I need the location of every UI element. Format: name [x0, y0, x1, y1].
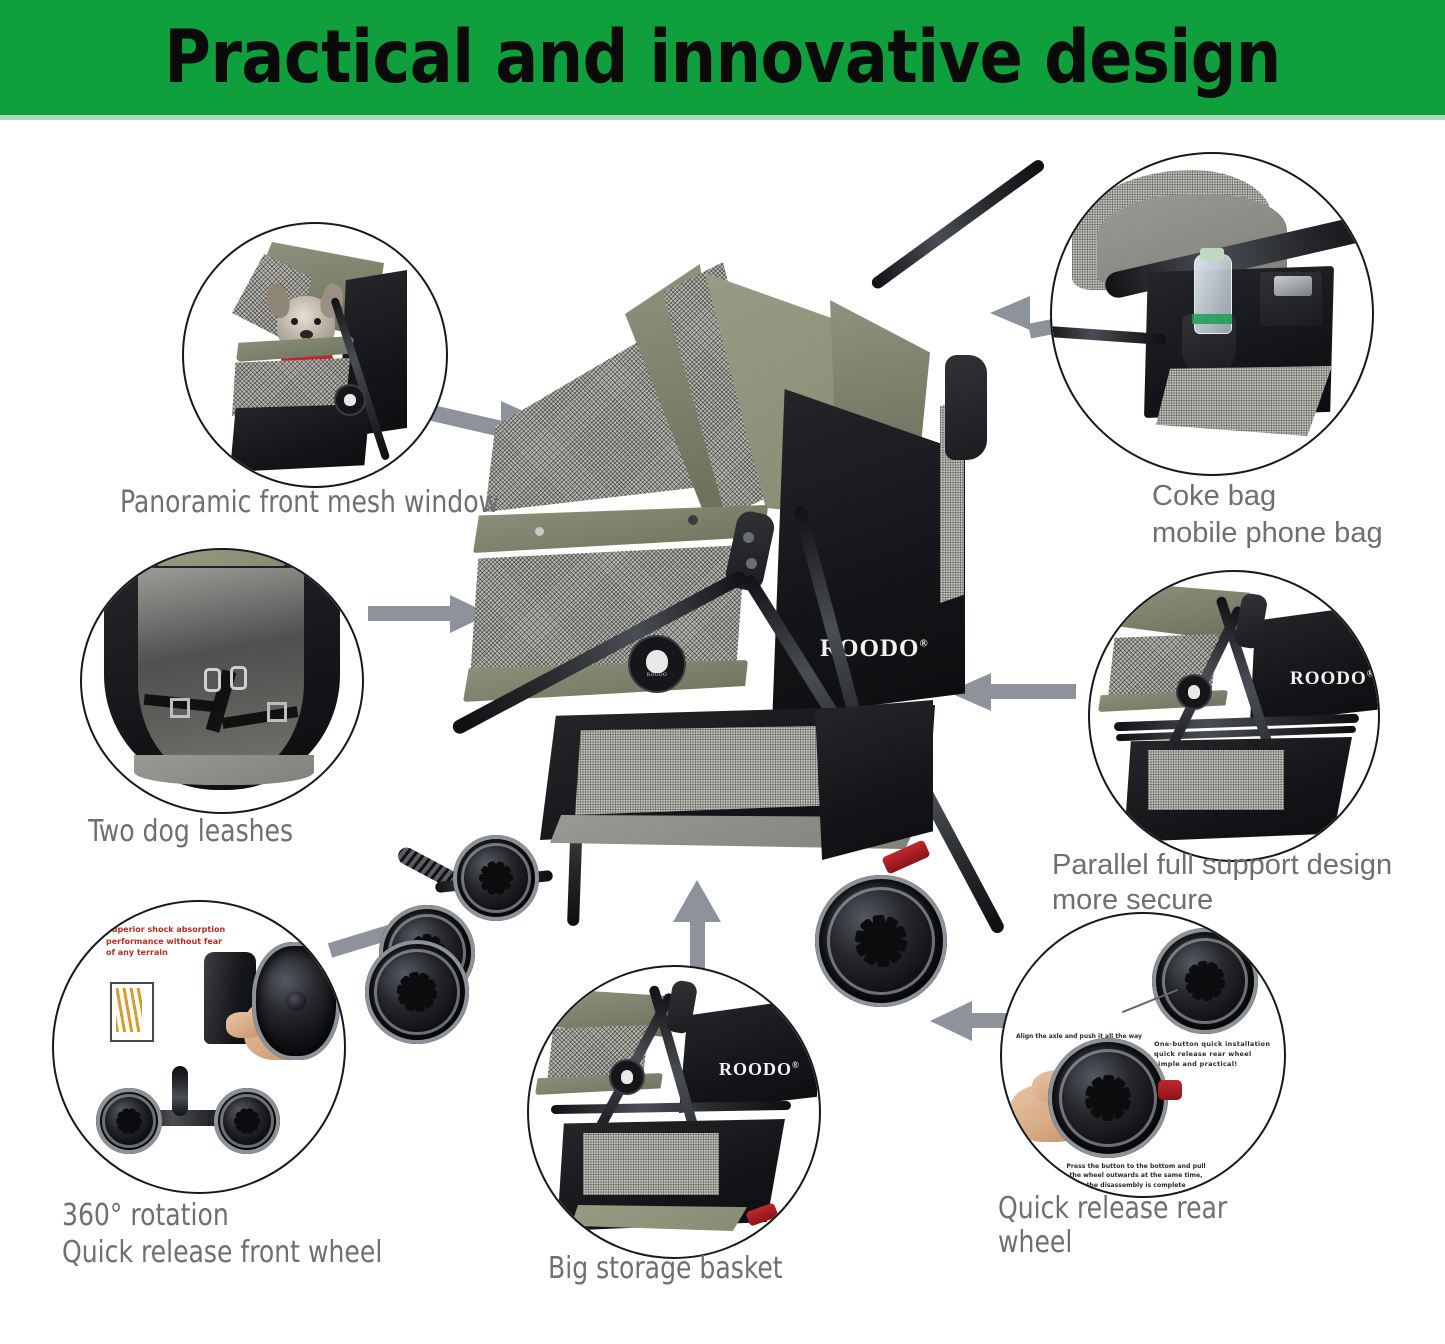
inset4-basket-mesh [1148, 750, 1284, 810]
banner-underline [0, 115, 1445, 120]
inset6-support-bar [551, 1101, 791, 1114]
inset6-roodo-wordmark: ROODO® [719, 1059, 800, 1080]
inset3-rear-lip [134, 755, 314, 785]
caption-panoramic-front-mesh-window: Panoramic front mesh window [120, 486, 511, 520]
inset3-leash-clip [230, 666, 247, 690]
brim-rivet [688, 515, 698, 525]
rear-headrest [945, 355, 987, 460]
inset7-wheel-installed [1152, 928, 1258, 1034]
caption-coke-bag: Coke bag mobile phone bag [1152, 478, 1445, 552]
rear-wheel [815, 875, 947, 1007]
joint-rivet [743, 532, 754, 543]
inset7-wheel-held [1048, 1038, 1168, 1158]
inset-quick-release-rear-wheel: One-button quick installation quick rele… [1000, 912, 1286, 1198]
inset7-bottom-annotation: Press the button to the bottom and pull … [1050, 1162, 1222, 1190]
main-product-image: ROODO® ROODO [375, 250, 995, 1020]
cabin-side-body [760, 368, 965, 718]
inset-quick-release-front-wheel: Superior shock absorption performance wi… [52, 900, 346, 1194]
roodo-dog-logo [646, 650, 668, 673]
inset5-wheel-bottom-left [96, 1088, 162, 1154]
inset2-bottle-label [1192, 314, 1232, 324]
inset2-phone [1274, 276, 1312, 296]
inset3-buckle [267, 702, 287, 722]
inset3-canopy-edge [156, 550, 286, 566]
front-wheel-lower [365, 940, 469, 1044]
inset2-basket-mesh [1156, 366, 1332, 436]
inset7-quick-release-button [1158, 1080, 1182, 1100]
caption-quick-release-rear-wheel: Quick release rear wheel [998, 1192, 1305, 1260]
inset-two-dog-leashes [80, 548, 364, 814]
page-title: Practical and innovative design [22, 5, 1424, 110]
caption-two-dog-leashes: Two dog leashes [88, 815, 367, 849]
canopy-front-brim [473, 505, 768, 553]
handle-bar [869, 158, 1046, 291]
inset4-side-body [1250, 604, 1378, 724]
inset1-roodo-badge [334, 384, 366, 416]
inset2-bottle-cap [1200, 248, 1224, 261]
roodo-badge-main: ROODO [628, 635, 686, 693]
roodo-dog-logo [344, 394, 355, 406]
inset6-side-body [679, 997, 817, 1113]
inset4-roodo-wordmark: ROODO® [1290, 668, 1375, 690]
front-mesh-window [470, 545, 745, 680]
inset5-wheel-right [252, 942, 340, 1060]
roodo-badge-text: ROODO [647, 673, 667, 678]
front-wheel-upper-rear [453, 835, 539, 921]
caption-parallel-full-support: Parallel full support design more secure [1052, 848, 1445, 919]
roodo-dog-logo [621, 1070, 634, 1083]
inset7-top-annotation: One-button quick installation quick rele… [1154, 1040, 1284, 1069]
inset-coke-bag-mobile-phone-bag [1050, 152, 1374, 476]
inset6-roodo-badge [609, 1059, 645, 1095]
inset-big-storage-basket: ROODO® [527, 965, 821, 1259]
inset3-buckle [170, 698, 190, 718]
storage-basket-side [815, 700, 933, 860]
inset3-leash-clip [204, 668, 221, 692]
inset5-wheel-bottom-right [214, 1088, 280, 1154]
caption-quick-release-front-wheel: 360° rotation Quick release front wheel [62, 1198, 434, 1271]
inset-panoramic-front-mesh-window [182, 222, 448, 488]
brim-rivet [535, 527, 544, 536]
wheel-hub [286, 991, 306, 1011]
inset5-stem [172, 1066, 188, 1116]
caption-big-storage-basket: Big storage basket [548, 1252, 855, 1286]
joint-rivet [746, 558, 757, 569]
inset4-roodo-badge [1176, 674, 1212, 710]
inset6-basket-mesh-panel [583, 1133, 719, 1195]
inset5-spring-frame [110, 982, 154, 1042]
inset7-mid-annotation: Align the axle and push it all the way [1016, 1032, 1146, 1041]
inset-parallel-full-support-design: ROODO® [1088, 570, 1380, 862]
roodo-dog-logo [1188, 685, 1201, 698]
